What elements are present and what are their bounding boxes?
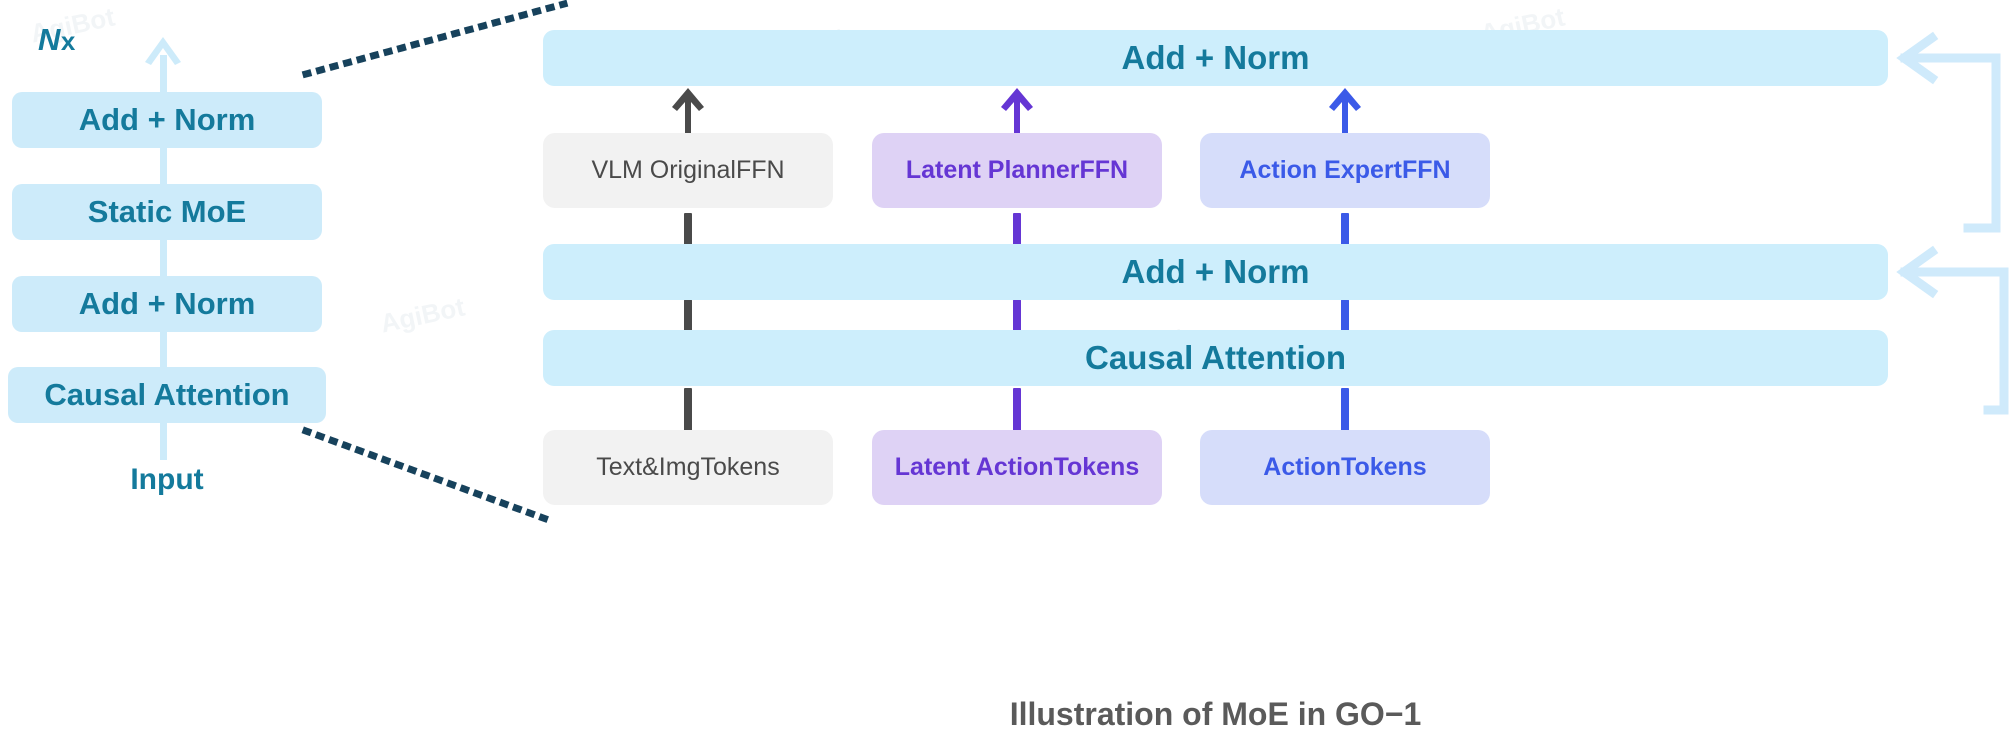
left-spine-segment	[160, 238, 167, 278]
ffn-label-action: Action Expert	[1239, 155, 1402, 186]
ffn-sublabel-latent: FFN	[1080, 155, 1129, 186]
figure-caption: Illustration of MoE in GO−1	[543, 696, 1888, 733]
left-block-add-norm-top: Add + Norm	[12, 92, 322, 148]
connector-stem-action-mid	[1341, 300, 1349, 332]
watermark: AgiBot	[378, 291, 468, 339]
repeat-x: x	[61, 26, 76, 56]
left-spine-segment	[160, 146, 167, 186]
ffn-sublabel-action: FFN	[1402, 155, 1451, 186]
left-block-add-norm-bottom: Add + Norm	[12, 276, 322, 332]
left-block-static-moe: Static MoE	[12, 184, 322, 240]
ffn-label-vlm: VLM Original	[591, 155, 736, 186]
token-label-text-img: Text&Img	[596, 452, 700, 483]
ffn-box-action-expert: Action ExpertFFN	[1200, 133, 1490, 208]
token-label-action: Action	[1263, 452, 1341, 483]
dotted-connector-bottom	[300, 425, 570, 525]
arrow-up-icon-action	[1327, 88, 1363, 136]
left-block-causal-attention: Causal Attention	[8, 367, 326, 423]
token-box-latent-action: Latent ActionTokens	[872, 430, 1162, 505]
token-sublabel-action: Tokens	[1341, 452, 1427, 483]
connector-stem-vlm-mid	[684, 300, 692, 332]
ffn-box-latent-planner: Latent PlannerFFN	[872, 133, 1162, 208]
residual-connections	[1860, 0, 2014, 470]
band-add-norm-mid: Add + Norm	[543, 244, 1888, 300]
arrow-up-icon-latent	[999, 88, 1035, 136]
repeat-n: N	[38, 22, 61, 57]
token-box-text-img: Text&ImgTokens	[543, 430, 833, 505]
token-box-action: ActionTokens	[1200, 430, 1490, 505]
token-sublabel-text-img: Tokens	[700, 452, 779, 483]
ffn-box-vlm-original: VLM OriginalFFN	[543, 133, 833, 208]
left-spine-segment	[160, 55, 167, 95]
connector-stem-latent-mid	[1013, 300, 1021, 332]
diagram-canvas: AgiBot AgiBot AgiBot AgiBot AgiBot Nx Ad…	[0, 0, 2014, 748]
dotted-connector-top	[300, 0, 570, 80]
repeat-count-label: Nx	[38, 22, 76, 58]
ffn-label-latent: Latent Planner	[906, 155, 1080, 186]
arrow-up-icon-vlm	[670, 88, 706, 136]
token-sublabel-latent-action: Tokens	[1054, 452, 1140, 483]
band-causal-attention: Causal Attention	[543, 330, 1888, 386]
left-spine-segment	[160, 422, 167, 460]
left-input-label: Input	[12, 463, 322, 497]
left-spine-segment	[160, 330, 167, 370]
band-add-norm-top: Add + Norm	[543, 30, 1888, 86]
ffn-sublabel-vlm: FFN	[736, 155, 785, 186]
token-label-latent-action: Latent Action	[895, 452, 1054, 483]
